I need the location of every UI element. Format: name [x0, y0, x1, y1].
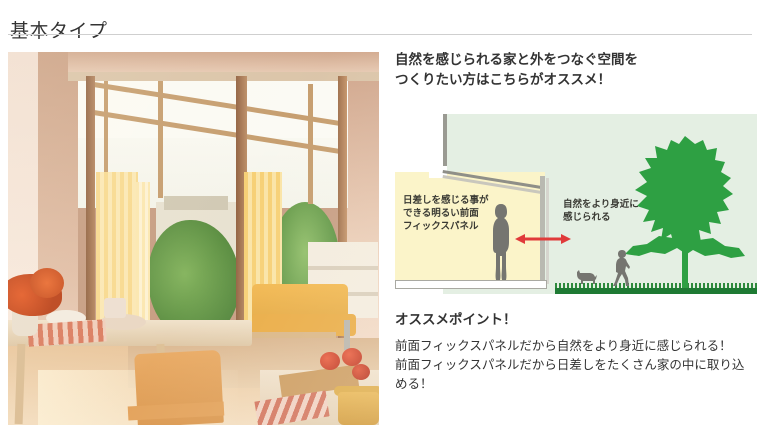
sunroom-photo	[8, 52, 379, 425]
diagram-floor-slab	[395, 280, 547, 289]
diagram-label-outside: 自然をより身近に 感じられる	[563, 198, 663, 224]
label-inside-line-1: 日差しを感じる事が	[403, 195, 489, 206]
lead-heading: 自然を感じられる家と外をつなぐ空間を つくりたい方はこちらがオススメ！	[395, 50, 755, 90]
title-divider	[8, 34, 752, 35]
right-column: 自然を感じられる家と外をつなぐ空間を つくりたい方はこちらがオススメ！	[395, 50, 755, 394]
lead-line-1: 自然を感じられる家と外をつなぐ空間を	[395, 52, 638, 67]
recommend-point-line-2: 前面フィックスパネルだから日差しをたくさん家の中に取り込める！	[395, 356, 755, 394]
page-root: 基本タイプ	[0, 0, 760, 425]
lead-line-2: つくりたい方はこちらがオススメ！	[395, 72, 611, 87]
label-inside-line-2: できる明るい前面	[403, 208, 479, 219]
recommend-point-line-1: 前面フィックスパネルだから自然をより身近に感じられる！	[395, 337, 755, 356]
section-diagram: 日差しを感じる事が できる明るい前面 フィックスパネル 自然をより身近に 感じら…	[395, 98, 757, 294]
person-outside-icon	[613, 250, 631, 286]
distance-arrow-icon	[515, 232, 571, 246]
label-outside-line-2: 感じられる	[563, 212, 611, 223]
dog-icon	[575, 268, 599, 284]
label-outside-line-1: 自然をより身近に	[563, 199, 639, 210]
page-title: 基本タイプ	[10, 16, 108, 43]
photo-warm-overlay	[8, 52, 379, 425]
diagram-fix-panel-glass	[546, 178, 549, 284]
diagram-fix-panel	[540, 176, 545, 284]
recommend-point-title: オススメポイント！	[395, 308, 755, 328]
diagram-ground	[555, 288, 757, 294]
label-inside-line-3: フィックスパネル	[403, 221, 479, 232]
diagram-label-inside: 日差しを感じる事が できる明るい前面 フィックスパネル	[403, 194, 513, 233]
